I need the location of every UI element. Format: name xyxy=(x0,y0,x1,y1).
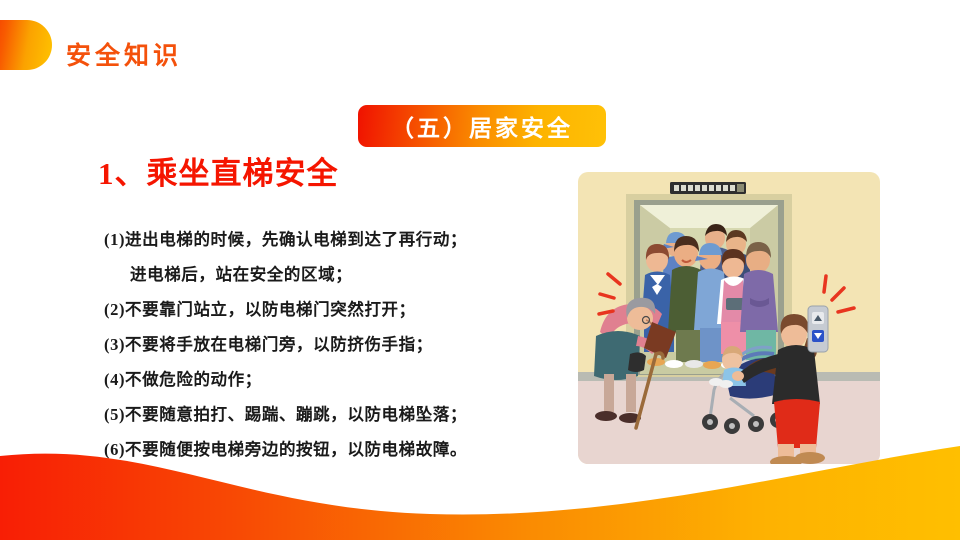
wave-decoration-icon xyxy=(0,430,960,540)
capsule-decoration-icon xyxy=(0,20,52,70)
body-line: 进电梯后，站在安全的区域； xyxy=(104,257,556,292)
body-line: (1)进出电梯的时候，先确认电梯到达了再行动； xyxy=(104,222,556,257)
body-line: (3)不要将手放在电梯门旁，以防挤伤手指； xyxy=(104,327,556,362)
section-badge: （五）居家安全 xyxy=(358,105,606,147)
main-heading: 1、乘坐直梯安全 xyxy=(98,148,339,193)
crowded-elevator-illustration xyxy=(578,172,880,464)
body-line: (2)不要靠门站立，以防电梯门突然打开； xyxy=(104,292,556,327)
slide-canvas: 安全知识 （五）居家安全 1、乘坐直梯安全 (1)进出电梯的时候，先确认电梯到达… xyxy=(0,0,960,540)
section-badge-label: （五）居家安全 xyxy=(391,109,573,143)
body-line: (4)不做危险的动作； xyxy=(104,362,556,397)
elevator-scene-svg xyxy=(578,172,880,464)
floor-indicator-panel xyxy=(670,182,746,194)
body-line: (5)不要随意拍打、踢踹、蹦跳，以防电梯坠落； xyxy=(104,397,556,432)
elevator-call-button-panel[interactable] xyxy=(808,306,828,352)
page-title: 安全知识 xyxy=(66,36,182,72)
